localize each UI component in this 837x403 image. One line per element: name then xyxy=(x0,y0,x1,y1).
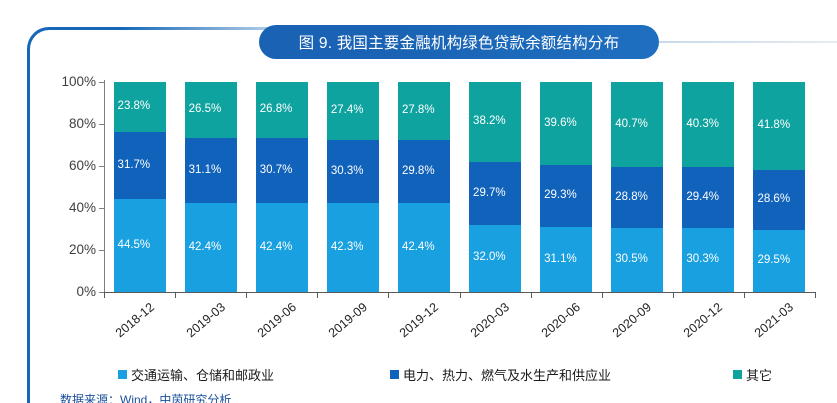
bar-segment[interactable]: 30.3% xyxy=(682,228,734,292)
stacked-bar[interactable]: 26.5%31.1%42.4% xyxy=(185,82,237,292)
bar-segment[interactable]: 29.8% xyxy=(398,140,450,203)
bar-segment[interactable]: 26.5% xyxy=(185,82,237,138)
bar-segment-label: 29.5% xyxy=(753,255,790,267)
stacked-bar[interactable]: 27.4%30.3%42.3% xyxy=(327,82,379,292)
bar-segment[interactable]: 41.8% xyxy=(753,82,805,170)
bar-segment-label: 42.4% xyxy=(398,242,435,254)
legend-item[interactable]: 交通运输、仓储和邮政业 xyxy=(118,365,274,384)
bar-segment-label: 30.7% xyxy=(256,165,293,177)
bar-segment-label: 38.2% xyxy=(469,116,506,128)
bar-segment-label: 31.1% xyxy=(540,254,577,266)
stacked-bar[interactable]: 26.8%30.7%42.4% xyxy=(256,82,308,292)
legend-swatch-icon xyxy=(733,370,742,379)
bar-segment-label: 29.7% xyxy=(469,188,506,200)
bar-segment-label: 42.3% xyxy=(327,242,364,254)
bar-segment[interactable]: 42.4% xyxy=(256,203,308,292)
bar-segment-label: 26.8% xyxy=(256,104,293,116)
bar-segment[interactable]: 42.4% xyxy=(398,203,450,292)
bar-segment[interactable]: 42.4% xyxy=(185,203,237,292)
bar-segment[interactable]: 29.5% xyxy=(753,230,805,292)
bar-segment-label: 29.3% xyxy=(540,190,577,202)
bar-segment[interactable]: 31.7% xyxy=(114,132,166,199)
legend-label: 其它 xyxy=(746,365,772,384)
stacked-bar[interactable]: 40.3%29.4%30.3% xyxy=(682,82,734,292)
legend-item[interactable]: 电力、热力、燃气及水生产和供应业 xyxy=(390,365,611,384)
bar-segment-label: 42.4% xyxy=(256,242,293,254)
bar-segment[interactable]: 27.4% xyxy=(327,82,379,140)
bar-segment[interactable]: 44.5% xyxy=(114,199,166,292)
bar-segment-label: 39.6% xyxy=(540,118,577,130)
bar-segment[interactable]: 29.7% xyxy=(469,162,521,224)
bar-segment-label: 44.5% xyxy=(114,240,151,252)
bar-segment-label: 32.0% xyxy=(469,252,506,264)
chart-legend: 交通运输、仓储和邮政业电力、热力、燃气及水生产和供应业其它 xyxy=(104,363,815,385)
bar-segment-label: 29.4% xyxy=(682,192,719,204)
bar-segment[interactable]: 40.7% xyxy=(611,82,663,167)
legend-item[interactable]: 其它 xyxy=(733,365,772,384)
source-note: 数据来源：Wind，中茵研究分析 xyxy=(60,391,231,403)
bar-segment[interactable]: 23.8% xyxy=(114,82,166,132)
bar-segment[interactable]: 28.8% xyxy=(611,167,663,227)
stacked-bar[interactable]: 41.8%28.6%29.5% xyxy=(753,82,805,292)
bar-segment[interactable]: 30.5% xyxy=(611,228,663,292)
bar-segment-label: 30.3% xyxy=(682,254,719,266)
bar-segment[interactable]: 38.2% xyxy=(469,82,521,162)
bar-segment-label: 29.8% xyxy=(398,166,435,178)
bar-segment[interactable]: 32.0% xyxy=(469,225,521,292)
bar-segment-label: 40.7% xyxy=(611,119,648,131)
stacked-bar[interactable]: 39.6%29.3%31.1% xyxy=(540,82,592,292)
bar-segment-label: 28.6% xyxy=(753,194,790,206)
bar-segment-label: 30.5% xyxy=(611,254,648,266)
bar-segment[interactable]: 30.7% xyxy=(256,138,308,202)
bar-segment-label: 31.7% xyxy=(114,160,151,172)
stacked-bar[interactable]: 38.2%29.7%32.0% xyxy=(469,82,521,292)
bar-segment-label: 30.3% xyxy=(327,166,364,178)
bar-segment[interactable]: 26.8% xyxy=(256,82,308,138)
bar-segment-label: 23.8% xyxy=(114,101,151,113)
stacked-bar[interactable]: 27.8%29.8%42.4% xyxy=(398,82,450,292)
plot-area: 0%20%40%60%80%100% 23.8%31.7%44.5%26.5%3… xyxy=(0,0,837,403)
bar-segment[interactable]: 27.8% xyxy=(398,82,450,140)
bar-segment[interactable]: 31.1% xyxy=(540,227,592,292)
bar-segment[interactable]: 31.1% xyxy=(185,138,237,203)
legend-label: 电力、热力、燃气及水生产和供应业 xyxy=(403,365,611,384)
bar-segment[interactable]: 42.3% xyxy=(327,203,379,292)
bar-segment-label: 31.1% xyxy=(185,165,222,177)
bar-segment-label: 41.8% xyxy=(753,120,790,132)
bar-segment-label: 28.8% xyxy=(611,192,648,204)
bar-segment-label: 27.8% xyxy=(398,105,435,117)
stacked-bar[interactable]: 40.7%28.8%30.5% xyxy=(611,82,663,292)
legend-swatch-icon xyxy=(390,370,399,379)
bar-segment-label: 40.3% xyxy=(682,119,719,131)
bar-segment[interactable]: 40.3% xyxy=(682,82,734,167)
figure-container: 图 9. 我国主要金融机构绿色贷款余额结构分布 0%20%40%60%80%10… xyxy=(0,0,837,403)
bar-segment[interactable]: 39.6% xyxy=(540,82,592,165)
bar-segment[interactable]: 29.3% xyxy=(540,165,592,227)
bar-segment-label: 26.5% xyxy=(185,104,222,116)
bar-segment[interactable]: 28.6% xyxy=(753,170,805,230)
bar-segment-label: 27.4% xyxy=(327,105,364,117)
stacked-bar[interactable]: 23.8%31.7%44.5% xyxy=(114,82,166,292)
bars-layer: 23.8%31.7%44.5%26.5%31.1%42.4%26.8%30.7%… xyxy=(0,0,837,403)
bar-segment[interactable]: 30.3% xyxy=(327,140,379,204)
legend-swatch-icon xyxy=(118,370,127,379)
legend-label: 交通运输、仓储和邮政业 xyxy=(131,365,274,384)
bar-segment[interactable]: 29.4% xyxy=(682,167,734,229)
bar-segment-label: 42.4% xyxy=(185,242,222,254)
